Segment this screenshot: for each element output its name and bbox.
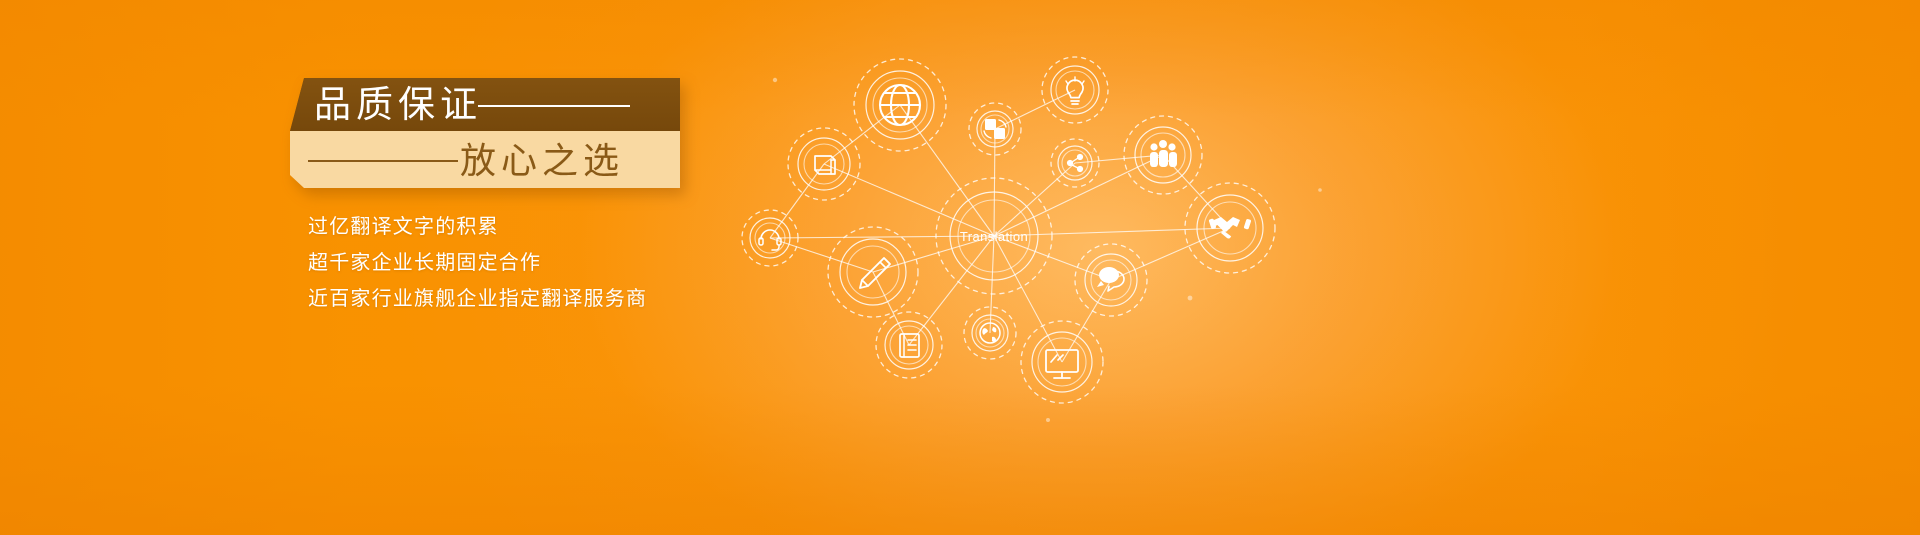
network-node-document	[876, 312, 942, 378]
decorative-dot	[1188, 296, 1193, 301]
decorative-dot	[1318, 188, 1322, 192]
ribbon-subtitle: 放心之选	[460, 139, 624, 184]
center-node-label: Translation	[960, 229, 1028, 244]
document-list-icon	[900, 334, 919, 357]
ribbon-rule-top	[478, 105, 630, 107]
network-node-team	[1124, 116, 1202, 194]
people-group-icon	[1150, 140, 1177, 167]
quality-ribbon: 品质保证 放心之选	[290, 78, 680, 188]
banner-stage: 品质保证 放心之选 过亿翻译文字的积累 超千家企业长期固定合作 近百家行业旗舰企…	[0, 0, 1920, 535]
headset-icon	[759, 230, 781, 250]
network-node-chat	[1075, 244, 1147, 316]
translate-icon	[984, 119, 1006, 139]
ribbon-title: 品质保证	[314, 82, 482, 128]
network-node-handshake	[1185, 183, 1275, 273]
globe-icon	[880, 85, 920, 125]
decorative-dot	[773, 78, 777, 82]
monitor-icon	[1046, 350, 1078, 378]
translation-network-graphic: .ln { stroke:#ffffff; stroke-opacity:.75…	[700, 0, 1400, 535]
pencil-icon	[860, 258, 890, 288]
network-node-globe	[854, 59, 946, 151]
decorative-dot	[1046, 418, 1050, 422]
chat-bubbles-icon	[1097, 267, 1124, 291]
ribbon-rule-bottom	[308, 160, 458, 162]
network-node-translate	[969, 103, 1021, 155]
handshake-icon	[1209, 217, 1252, 239]
